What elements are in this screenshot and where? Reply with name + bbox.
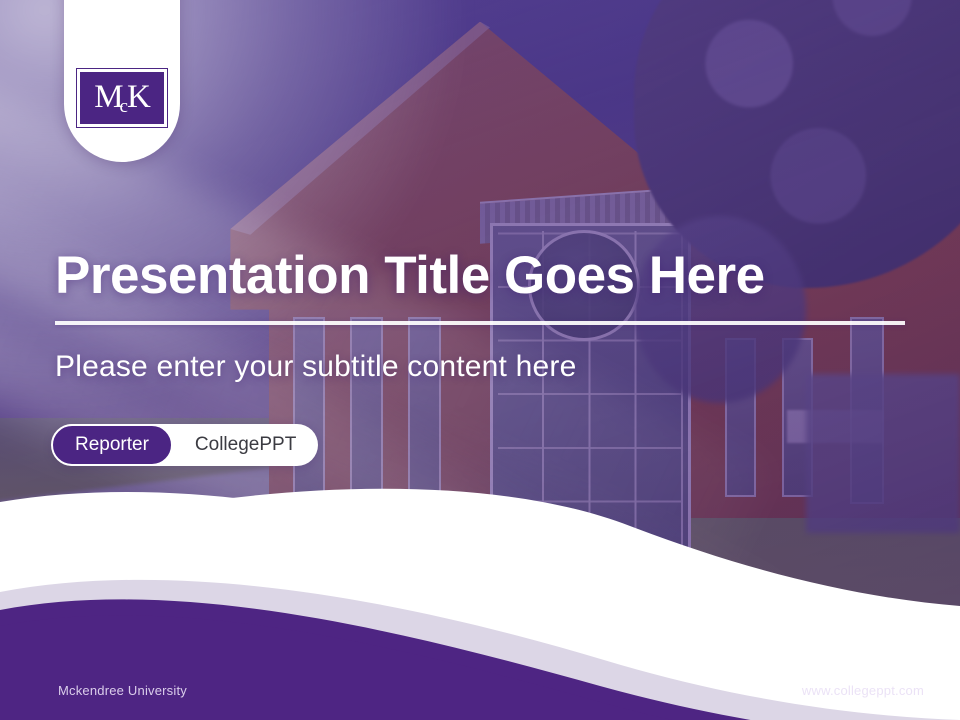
footer-website: www.collegeppt.com bbox=[802, 683, 924, 698]
reporter-name: CollegePPT bbox=[173, 434, 296, 456]
presentation-slide: McK Presentation Title Goes Here Please … bbox=[0, 0, 960, 720]
mckendree-logo-mark: McK bbox=[76, 68, 168, 128]
slide-subtitle: Please enter your subtitle content here bbox=[55, 350, 576, 384]
logo-letter-m: M bbox=[94, 79, 122, 115]
footer-university-name: Mckendree University bbox=[58, 683, 187, 698]
logo-letter-k: K bbox=[127, 79, 150, 115]
logo-lettering: McK bbox=[94, 81, 150, 114]
university-logo-shield: McK bbox=[64, 0, 180, 162]
slide-title: Presentation Title Goes Here bbox=[55, 247, 915, 305]
logo-letter-c: c bbox=[120, 96, 127, 117]
reporter-label: Reporter bbox=[51, 424, 173, 466]
reporter-badge[interactable]: Reporter CollegePPT bbox=[52, 424, 318, 466]
title-divider bbox=[55, 321, 905, 325]
